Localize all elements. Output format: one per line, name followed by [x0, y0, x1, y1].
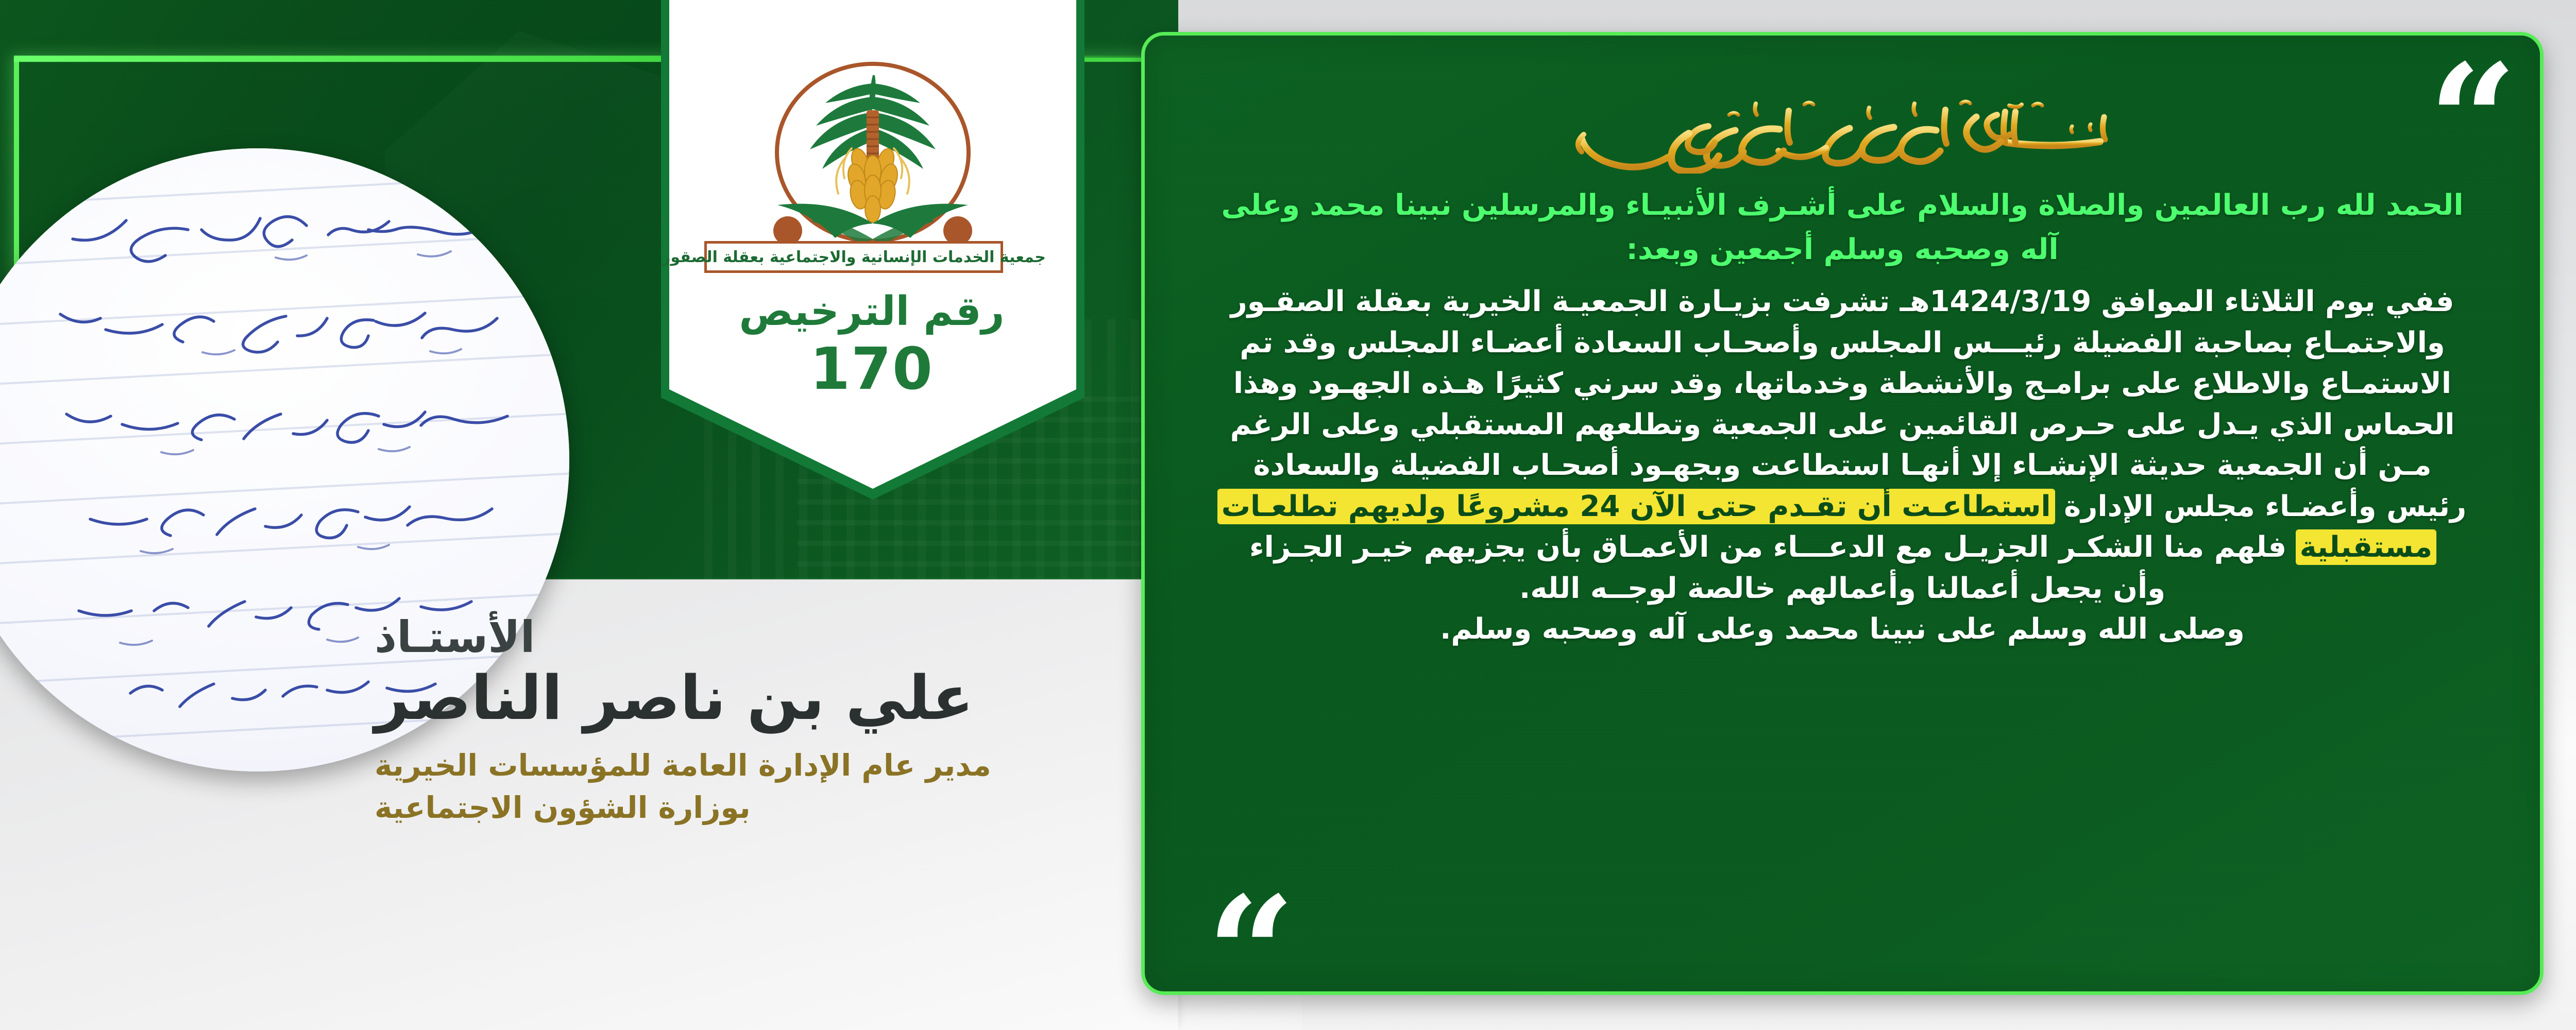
greeting-line-1: الحمد لله رب العالمين والصلاة والسلام عل… — [1175, 185, 2510, 226]
testimonial-line-4: الحماس الذي يـدل على حـرص القائمين على ا… — [1175, 404, 2510, 445]
testimonial-line-6: رئيس وأعضـاء مجلس الإدارة استطاعـت أن تق… — [1175, 486, 2510, 527]
signatory-honorific: الأستـاذ — [375, 613, 1101, 661]
signatory-name: علي بن ناصر الناصر — [375, 663, 1101, 733]
text-run: مـن أن الجمعية حديثة الإنشـاء إلا أنهـا … — [1253, 449, 2431, 482]
text-run: ففي يوم الثلاثاء الموافق 1424/3/19هـ تشر… — [1231, 285, 2454, 318]
text-run: رئيس وأعضـاء مجلس الإدارة — [2054, 490, 2467, 523]
testimonial-line-8: وأن يجعل أعمالنا وأعمالهم خالصة لوجــه ا… — [1175, 568, 2510, 609]
saudi-palm-swords-wheat-emblem — [717, 61, 1029, 262]
testimonial-line-2: والاجتمـاع بصاحبة الفضيلة رئيـــس المجلس… — [1175, 322, 2510, 364]
testimonial-line-3: الاستمـاع والاطلاع على برامـج والأنشطة و… — [1175, 363, 2510, 404]
testimonial-line-5: مـن أن الجمعية حديثة الإنشـاء إلا أنهـا … — [1175, 445, 2510, 486]
testimonial-line-7: مستقبلية فلهم منا الشكـر الجزيـل مع الدع… — [1175, 527, 2510, 568]
text-run: فلهم منا الشكـر الجزيـل مع الدعـــاء من … — [1249, 530, 2297, 564]
testimonial-body: ففي يوم الثلاثاء الموافق 1424/3/19هـ تشر… — [1175, 281, 2510, 650]
quote-close-icon: “ — [1207, 898, 1296, 995]
license-number: 170 — [673, 336, 1070, 403]
testimonial-text: الحمد لله رب العالمين والصلاة والسلام عل… — [1175, 185, 2510, 650]
testimonial-panel: “ “ — [1141, 32, 2544, 995]
signatory-title-line2: بوزارة الشؤون الاجتماعية — [375, 789, 1101, 827]
signatory-block: الأستـاذ علي بن ناصر الناصر مدير عام الإ… — [354, 613, 1101, 827]
text-run: وصلى الله وسلم على نبينا محمد وعلى آله و… — [1440, 612, 2245, 646]
testimonial-line-9: وصلى الله وسلم على نبينا محمد وعلى آله و… — [1175, 609, 2510, 650]
text-run: الاستمـاع والاطلاع على برامـج والأنشطة و… — [1233, 367, 2451, 400]
text-run: والاجتمـاع بصاحبة الفضيلة رئيـــس المجلس… — [1240, 326, 2445, 359]
highlighted-phrase: استطاعـت أن تقـدم حتى الآن 24 مشروعًا ول… — [1218, 490, 2054, 523]
highlighted-phrase: مستقبلية — [2297, 530, 2435, 564]
testimonial-line-1: ففي يوم الثلاثاء الموافق 1424/3/19هـ تشر… — [1175, 281, 2510, 322]
text-run: الحماس الذي يـدل على حـرص القائمين على ا… — [1230, 408, 2455, 441]
association-name: جمعية الخدمات الإنسانية والاجتماعية بعقل… — [662, 248, 1046, 266]
basmala-calligraphy — [1145, 96, 2540, 174]
text-run: وأن يجعل أعمالنا وأعمالهم خالصة لوجــه ا… — [1519, 572, 2165, 605]
greeting-line-2: آله وصحبه وسلم أجمعين وبعد: — [1175, 229, 2510, 270]
association-name-band: جمعية الخدمات الإنسانية والاجتماعية بعقل… — [704, 241, 1003, 273]
license-label: رقم الترخيص — [673, 288, 1070, 335]
signatory-title-line1: مدير عام الإدارة العامة للمؤسسات الخيرية — [375, 747, 1101, 784]
certificate-banner: جمعية الخدمات الإنسانية والاجتماعية بعقل… — [0, 0, 2576, 1030]
